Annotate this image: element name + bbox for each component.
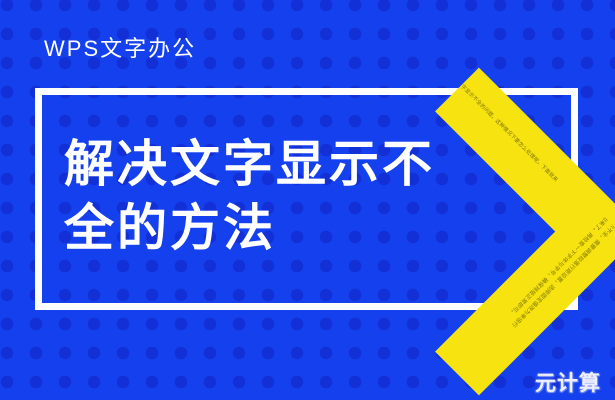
headline-line-2: 全的方法 bbox=[64, 196, 504, 260]
watermark-label: 元计算 bbox=[535, 373, 601, 394]
poster-canvas: WPS文字办公 解决文字显示不 全的方法 在使用的时候，有时会出现文字显示不全的… bbox=[0, 0, 615, 400]
headline-block: 解决文字显示不 全的方法 bbox=[64, 132, 504, 260]
page-title: WPS文字办公 bbox=[44, 38, 196, 60]
headline-line-1: 解决文字显示不 bbox=[64, 132, 504, 196]
